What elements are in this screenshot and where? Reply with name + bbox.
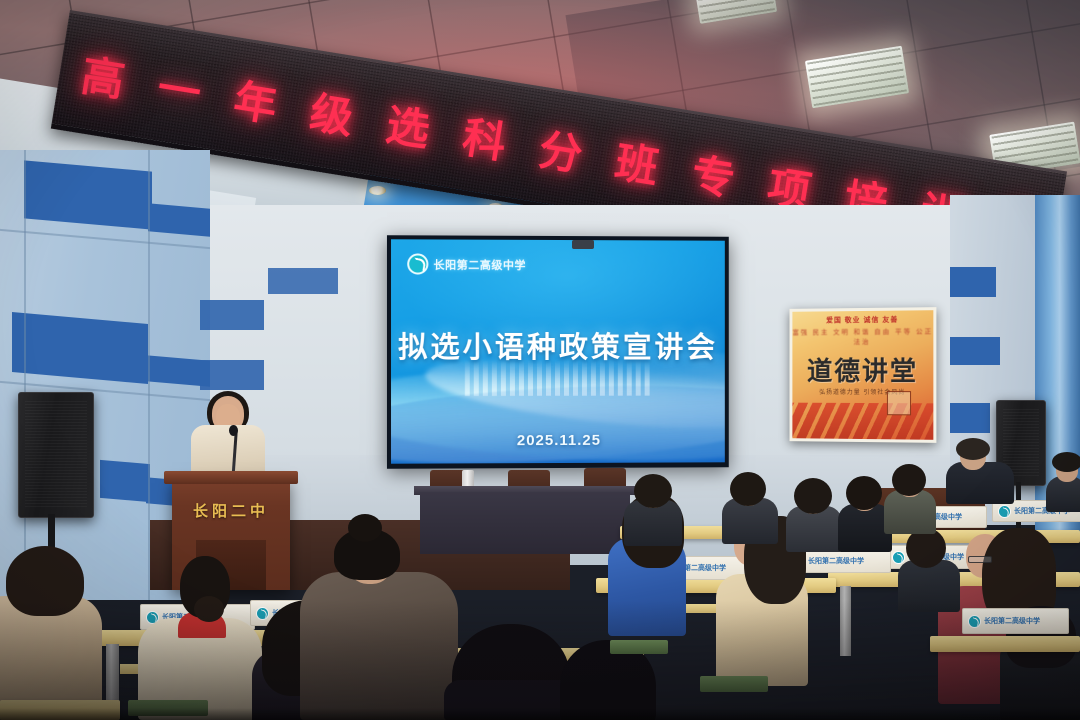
poster-title: 道德讲堂 bbox=[792, 351, 933, 388]
screen-logo-text: 长阳第二高级中学 bbox=[433, 256, 526, 272]
audience-person-hair bbox=[846, 476, 882, 510]
desk-plate-text: 长阳第二高级中学 bbox=[808, 556, 864, 566]
poster-top-line2: 富强 民主 文明 和谐 自由 平等 公正 法治 bbox=[792, 325, 933, 346]
audience-person-hair-bun bbox=[348, 514, 382, 542]
banner-char: 高 bbox=[77, 41, 129, 109]
school-emblem-icon bbox=[892, 551, 905, 564]
great-wall-graphic bbox=[789, 403, 936, 443]
banner-char: 科 bbox=[459, 103, 511, 171]
banner-char: 级 bbox=[306, 78, 358, 146]
school-emblem-icon bbox=[998, 505, 1011, 518]
wall-panel-blue bbox=[950, 337, 1000, 365]
screen-title: 拟选小语种政策宣讲会 bbox=[391, 324, 725, 366]
foreground-shadow bbox=[0, 600, 1080, 720]
wall-panel-blue bbox=[950, 267, 996, 297]
ceiling-downlight bbox=[369, 186, 386, 195]
audience-person-hair bbox=[1052, 452, 1080, 472]
podium-top-edge bbox=[164, 471, 298, 484]
projection-screen-frame: 长阳第二高级中学 拟选小语种政策宣讲会 2025.11.25 bbox=[387, 235, 729, 469]
auditorium-photo: 高 一 年 级 选 科 分 班 专 项 培 训 会 bbox=[0, 0, 1080, 720]
banner-char: 班 bbox=[611, 128, 663, 196]
projection-screen: 长阳第二高级中学 拟选小语种政策宣讲会 2025.11.25 bbox=[391, 239, 725, 463]
eyeglasses-icon bbox=[968, 556, 992, 563]
audience-person-hair bbox=[634, 474, 672, 508]
banner-char: 年 bbox=[230, 66, 282, 134]
morality-hall-poster: 爱国 敬业 诚信 友善 富强 民主 文明 和谐 自由 平等 公正 法治 道德讲堂… bbox=[789, 307, 936, 443]
audience-person-hair bbox=[730, 472, 766, 506]
audience-person-hair bbox=[956, 438, 990, 460]
bottom-shadow bbox=[0, 708, 1080, 720]
ceiling-projector-icon bbox=[572, 240, 594, 249]
banner-char: 分 bbox=[535, 115, 587, 183]
microphone-icon bbox=[229, 425, 238, 436]
wall-seam bbox=[24, 150, 26, 600]
wall-panel-blue bbox=[950, 403, 990, 433]
screen-date: 2025.11.25 bbox=[391, 431, 725, 449]
left-loudspeaker bbox=[18, 392, 94, 518]
audience-person-hair bbox=[906, 528, 946, 568]
stage-table bbox=[420, 492, 630, 554]
wall-panel-blue bbox=[268, 268, 338, 294]
audience-person-hair bbox=[892, 464, 926, 496]
wall-panel-blue bbox=[24, 160, 152, 229]
podium-label: 长阳二中 bbox=[172, 500, 290, 521]
school-emblem-icon bbox=[407, 253, 428, 274]
poster-top-line: 爱国 敬业 诚信 友善 bbox=[792, 314, 933, 325]
red-seal-icon bbox=[887, 391, 911, 415]
wall-panel-blue bbox=[200, 300, 264, 330]
audience-person-hair bbox=[794, 478, 832, 514]
banner-char: 选 bbox=[382, 91, 434, 159]
wall-panel-blue bbox=[100, 460, 150, 502]
screen-school-logo: 长阳第二高级中学 bbox=[407, 253, 526, 274]
banner-char: 一 bbox=[154, 54, 206, 122]
wall-panel-blue bbox=[148, 203, 210, 236]
poster-subtitle: 弘扬道德力量 引领社会风尚 bbox=[792, 387, 933, 396]
wall-panel-blue bbox=[12, 312, 148, 384]
banner-char: 专 bbox=[687, 140, 739, 208]
wall-panel-blue bbox=[200, 360, 264, 390]
